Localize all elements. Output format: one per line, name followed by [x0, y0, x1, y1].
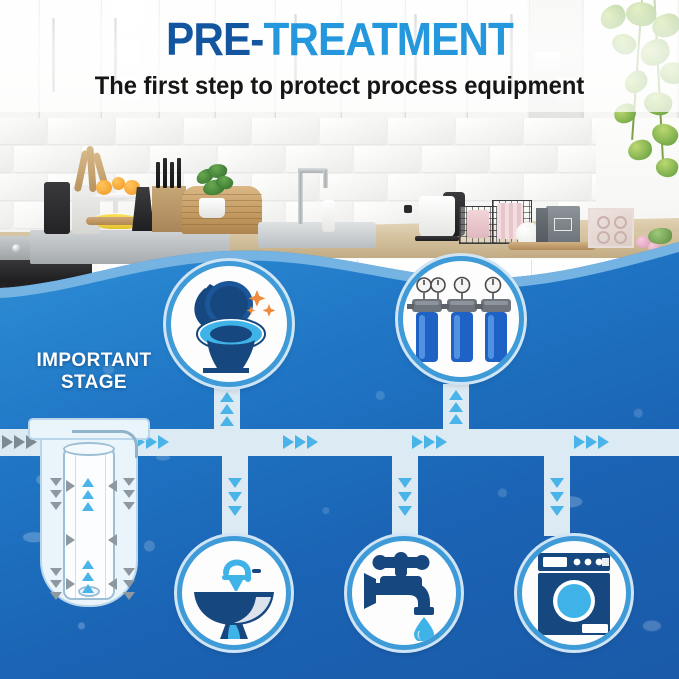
annulus-flow-arrow: [123, 592, 135, 600]
flow-arrow: [283, 435, 294, 449]
flow-arrow: [598, 435, 609, 449]
sink-faucet-column: [298, 168, 303, 224]
flow-arrow-down: [550, 506, 564, 516]
folded-towel: [467, 210, 489, 238]
annulus-flow-arrow: [123, 478, 135, 486]
washbasin-icon: [186, 545, 282, 641]
radial-flow-arrow: [108, 534, 117, 546]
flow-arrow: [158, 435, 169, 449]
annulus-flow-arrow: [50, 568, 62, 576]
flow-arrow-up: [220, 404, 234, 414]
flow-arrow-up: [220, 416, 234, 426]
flow-arrow-up: [449, 414, 463, 424]
core-flow-arrow: [82, 478, 94, 487]
tin-back: [536, 208, 548, 244]
annulus-flow-arrow: [123, 580, 135, 588]
water-tap-icon: [356, 545, 452, 641]
title-part-pre: PRE-: [166, 13, 263, 65]
leaf: [648, 228, 672, 244]
flow-arrow-up: [449, 390, 463, 400]
callout-line-1: IMPORTANT: [14, 350, 174, 372]
annulus-flow-arrow: [50, 502, 62, 510]
sink-faucet-spout: [323, 170, 328, 188]
annulus-flow-arrow: [50, 580, 62, 588]
inlet-arrow: [2, 435, 13, 449]
page-subtitle: The first step to protect process equipm…: [17, 72, 662, 101]
flow-arrow-down: [550, 478, 564, 488]
plant-pot: [199, 198, 225, 218]
flow-arrow-down: [398, 478, 412, 488]
infographic-canvas: PRE-TREATMENT The first step to protect …: [0, 0, 679, 679]
flow-arrow: [574, 435, 585, 449]
radial-flow-arrow: [66, 480, 75, 492]
annulus-flow-arrow: [50, 478, 62, 486]
core-flow-arrow: [82, 584, 94, 593]
node-tap[interactable]: [347, 536, 461, 650]
annulus-flow-arrow: [123, 568, 135, 576]
decorative-tile-art: [588, 208, 634, 248]
title-part-treatment: TREATMENT: [263, 13, 513, 65]
node-filter-housings[interactable]: [398, 256, 524, 382]
orange-fruit: [96, 180, 112, 195]
flow-arrow-up: [449, 402, 463, 412]
core-flow-arrow: [82, 560, 94, 569]
wooden-tray: [508, 242, 596, 250]
node-washing-machine[interactable]: [517, 536, 631, 650]
triple-filter-housing-icon: [407, 265, 515, 373]
toilet-icon: [177, 272, 281, 376]
kitchen-sink: [258, 222, 376, 248]
core-flow-arrow: [82, 572, 94, 581]
annulus-flow-arrow: [123, 490, 135, 498]
page-title: PRE-TREATMENT: [27, 12, 652, 66]
flow-arrow: [412, 435, 423, 449]
flow-arrow-down: [398, 506, 412, 516]
core-flow-arrow: [82, 490, 94, 499]
flow-arrow-down: [228, 478, 242, 488]
node-washbasin[interactable]: [177, 536, 291, 650]
kettle-base: [415, 236, 459, 241]
annulus-flow-arrow: [50, 490, 62, 498]
flow-arrow-down: [228, 506, 242, 516]
flow-arrow-down: [228, 492, 242, 502]
annulus-flow-arrow: [123, 502, 135, 510]
callout-line-2: STAGE: [14, 372, 174, 394]
flow-arrow: [295, 435, 306, 449]
power-plug: [404, 205, 412, 213]
utensil-crock-dark: [44, 182, 70, 234]
important-stage-callout: IMPORTANT STAGE: [14, 350, 174, 394]
flow-arrow: [424, 435, 435, 449]
knife-block: [152, 186, 186, 232]
filter-cartridge-top-cap: [63, 442, 115, 456]
washing-machine-icon: [526, 545, 622, 641]
flow-arrow-up: [220, 392, 234, 402]
tea-tin: [546, 206, 580, 244]
flow-arrow-down: [550, 492, 564, 502]
node-toilet[interactable]: [166, 261, 292, 387]
electric-kettle: [419, 196, 455, 238]
radial-flow-arrow: [108, 578, 117, 590]
flow-arrow: [307, 435, 318, 449]
annulus-flow-arrow: [50, 592, 62, 600]
utensil-crock-light: [72, 185, 100, 234]
flow-arrow-down: [398, 492, 412, 502]
radial-flow-arrow: [66, 534, 75, 546]
cutting-board: [86, 217, 138, 225]
flow-arrow: [586, 435, 597, 449]
soap-dispenser: [322, 200, 335, 232]
inlet-arrow: [14, 435, 25, 449]
flow-arrow: [436, 435, 447, 449]
core-flow-arrow: [82, 502, 94, 511]
radial-flow-arrow: [66, 578, 75, 590]
radial-flow-arrow: [108, 480, 117, 492]
